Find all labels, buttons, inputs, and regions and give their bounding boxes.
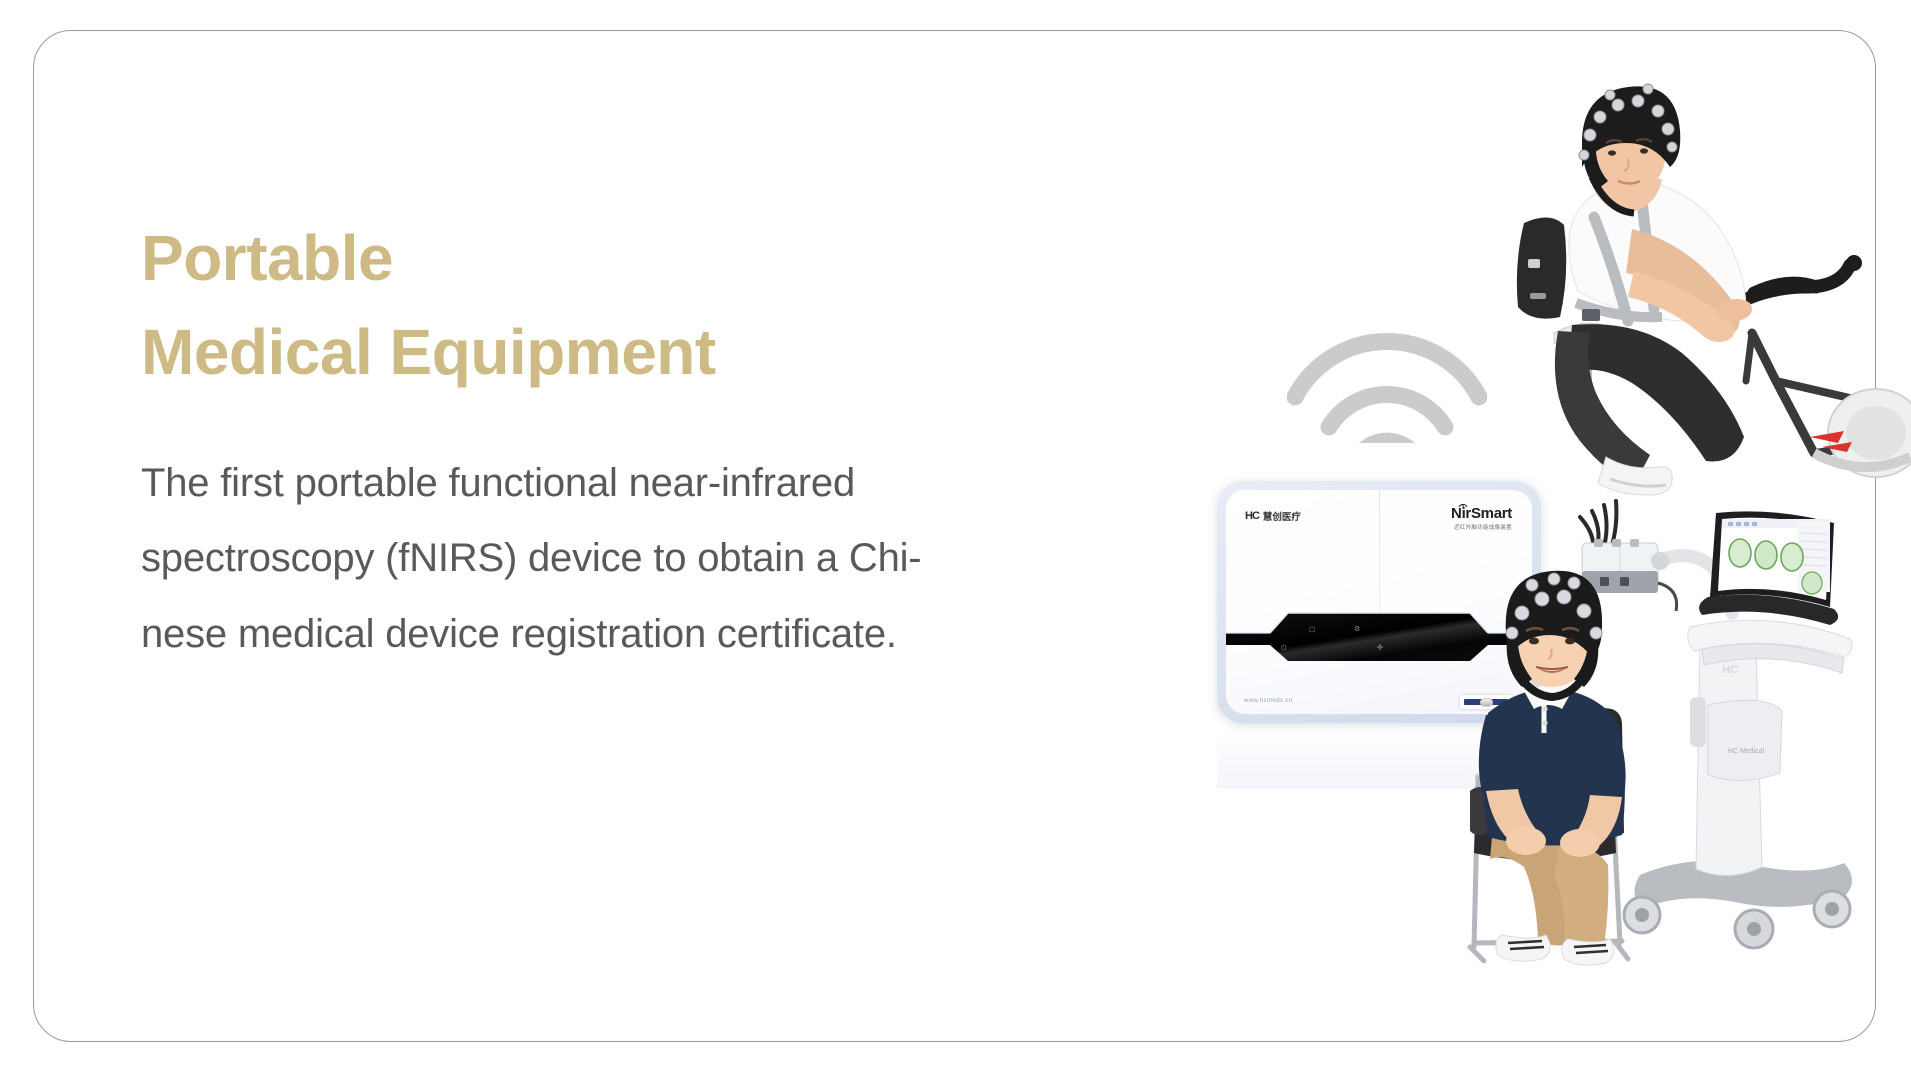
photo-cyclist-fnirs (1514, 81, 1911, 501)
headline-line-1: Portable (141, 211, 981, 305)
visual-area: HC 慧创医疗 NirSmart 近红外脑功能成像装置 (1184, 61, 1911, 1073)
page-title: Portable Medical Equipment (141, 211, 981, 399)
slide-card: Portable Medical Equipment The first por… (33, 30, 1876, 1042)
body-paragraph: The first portable functional near-infra… (141, 446, 981, 672)
body-line-2: spectroscopy (fNIRS) device to obtain a … (141, 521, 981, 596)
device-seam-line (1379, 490, 1380, 618)
svg-text:HC Medical: HC Medical (1728, 748, 1765, 755)
wifi-icon[interactable]: ᯽ (1376, 644, 1384, 651)
body-line-1: The first portable functional near-infra… (141, 446, 981, 521)
lamp-icon[interactable]: ☐ (1309, 627, 1315, 634)
text-block: Portable Medical Equipment The first por… (141, 211, 981, 672)
hc-brand-logo: HC 慧创医疗 (1245, 509, 1301, 523)
hc-mark-icon: HC (1245, 510, 1259, 522)
power-icon[interactable]: ⏻ (1281, 645, 1287, 652)
photo-child-fnirs-cart: HC Medical HC (1464, 491, 1911, 1051)
headline-line-2: Medical Equipment (141, 305, 981, 399)
svg-text:HC: HC (1722, 664, 1738, 676)
gear-icon[interactable]: ⚙ (1354, 626, 1360, 633)
body-line-3: nese medical device registration certifi… (141, 597, 981, 672)
device-website-label: www.hcmedx.cn (1244, 698, 1293, 704)
hc-brand-label: 慧创医疗 (1263, 509, 1301, 523)
wireless-signal-icon (1287, 323, 1487, 443)
